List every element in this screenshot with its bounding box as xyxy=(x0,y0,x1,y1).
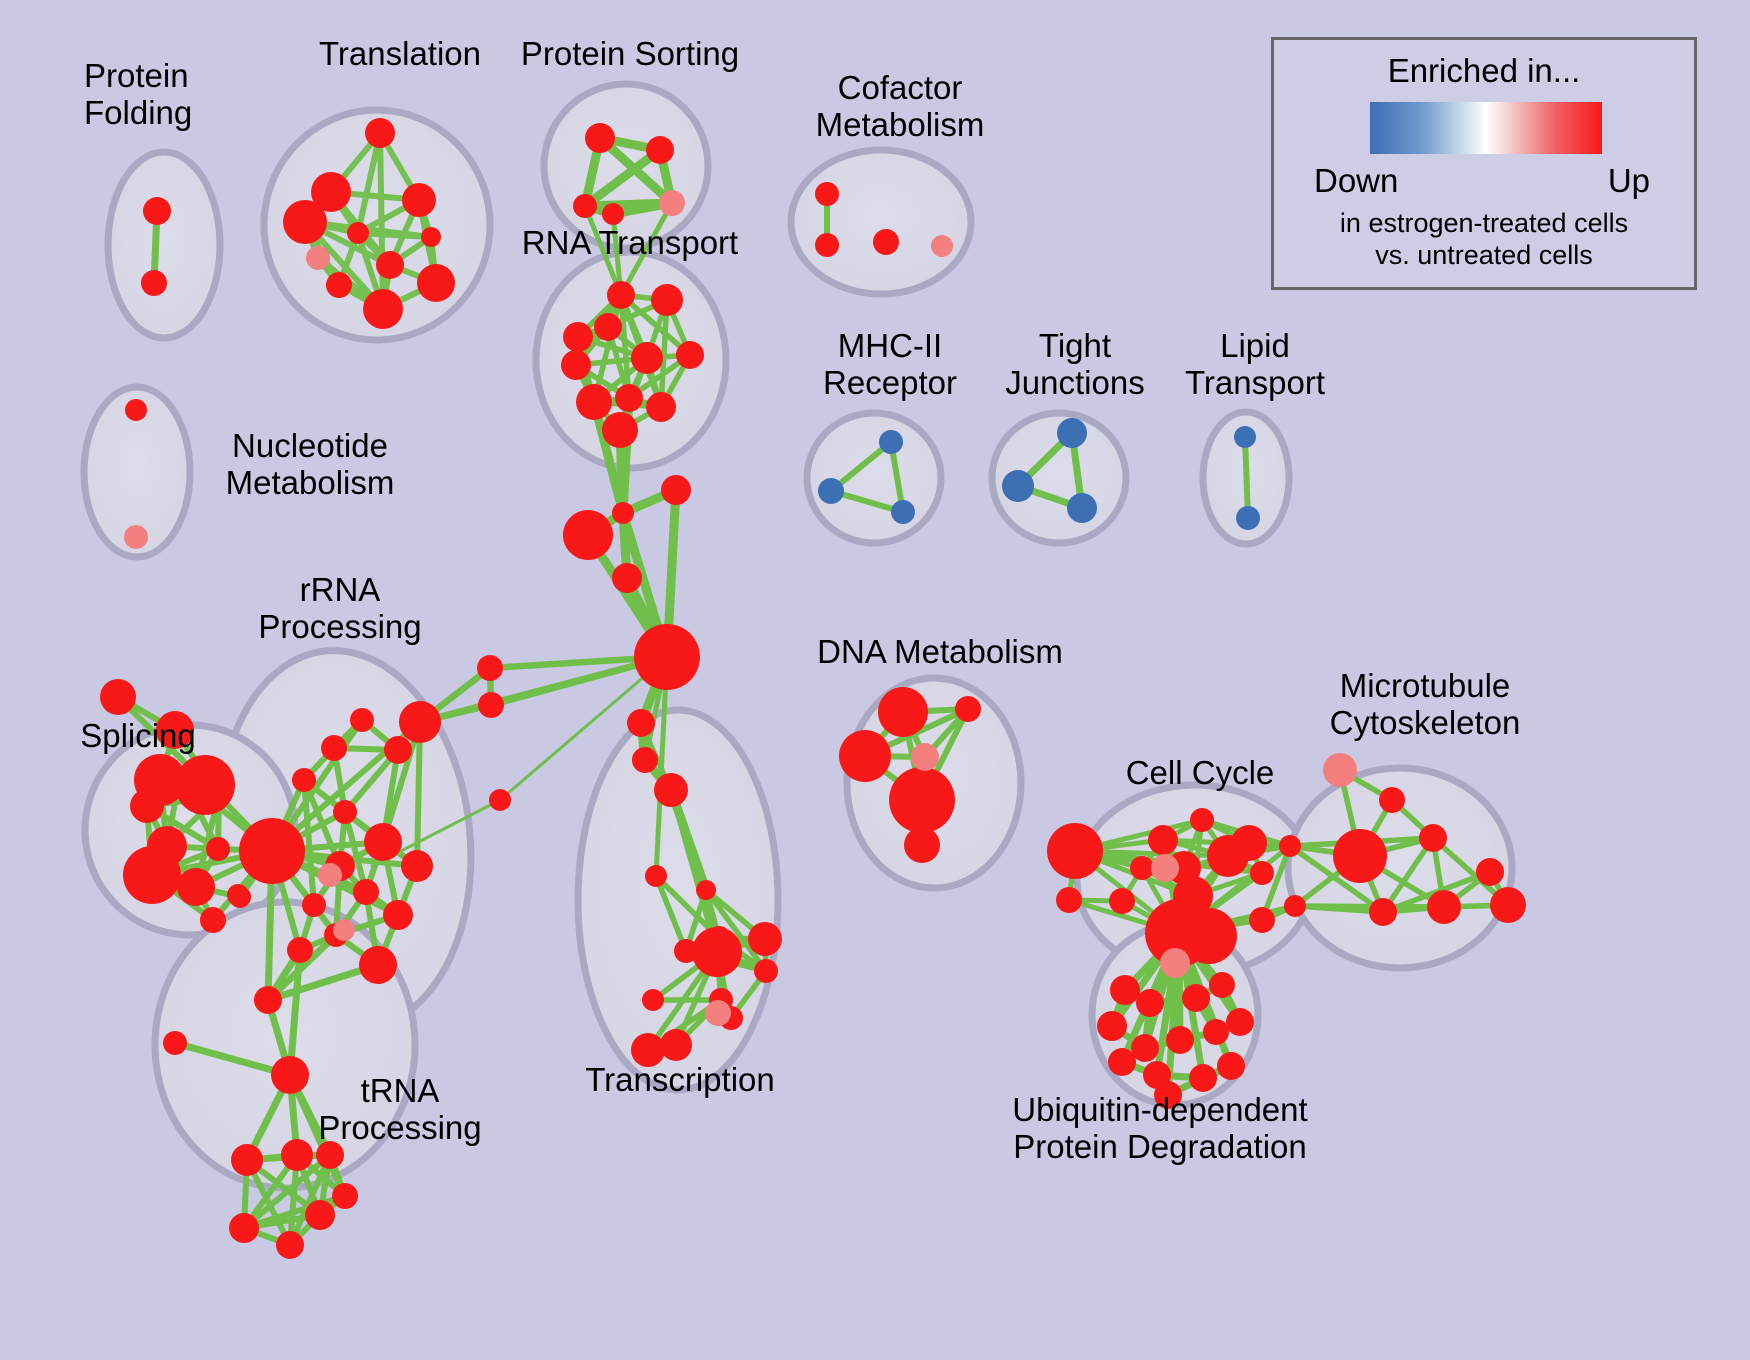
node-faded xyxy=(1160,948,1190,978)
node xyxy=(1419,824,1447,852)
network-figure: Protein Folding Translation Protein Sort… xyxy=(0,0,1750,1360)
node xyxy=(1148,825,1178,855)
node xyxy=(576,384,612,420)
node xyxy=(364,823,402,861)
cluster-label-protein-sorting: Protein Sorting xyxy=(500,36,760,73)
node xyxy=(563,510,613,560)
node-faded xyxy=(1323,753,1357,787)
node xyxy=(333,800,357,824)
node xyxy=(904,827,940,863)
node xyxy=(401,850,433,882)
node xyxy=(1249,907,1275,933)
node xyxy=(276,1231,304,1259)
node xyxy=(1236,506,1260,530)
node xyxy=(1110,975,1140,1005)
node xyxy=(889,767,955,833)
node xyxy=(955,696,981,722)
legend-high-label: Up xyxy=(1608,162,1650,200)
node xyxy=(383,900,413,930)
node xyxy=(1108,1048,1136,1076)
node xyxy=(231,1144,263,1176)
hull-mhcii xyxy=(807,413,941,543)
node xyxy=(384,736,412,764)
node xyxy=(353,879,379,905)
node xyxy=(878,687,928,737)
node xyxy=(229,1213,259,1243)
node xyxy=(1130,856,1154,880)
node xyxy=(143,197,171,225)
node xyxy=(563,322,593,352)
node xyxy=(123,846,181,904)
node xyxy=(227,884,249,906)
node xyxy=(1181,908,1237,964)
node xyxy=(1166,1026,1194,1054)
cluster-label-translation: Translation xyxy=(280,36,520,73)
node xyxy=(332,1183,358,1209)
node-faded xyxy=(333,919,355,941)
node xyxy=(1226,1008,1254,1036)
node xyxy=(754,959,778,983)
node xyxy=(1047,823,1103,879)
node xyxy=(1427,890,1461,924)
cluster-label-cofactor-metabolism: Cofactor Metabolism xyxy=(790,70,1010,144)
node xyxy=(1369,898,1397,926)
node xyxy=(1379,787,1405,813)
node xyxy=(365,118,395,148)
node xyxy=(1231,825,1267,861)
node xyxy=(646,392,676,422)
node xyxy=(1097,1011,1127,1041)
node xyxy=(417,264,455,302)
node xyxy=(561,350,591,380)
node xyxy=(402,183,436,217)
node xyxy=(1057,418,1087,448)
node xyxy=(631,342,663,374)
node-faded xyxy=(705,1000,731,1026)
node xyxy=(489,789,511,811)
node xyxy=(612,563,642,593)
node xyxy=(612,502,634,524)
node xyxy=(206,837,230,861)
node xyxy=(1067,493,1097,523)
node xyxy=(1056,887,1082,913)
node xyxy=(1234,426,1256,448)
node xyxy=(1002,470,1034,502)
node-faded xyxy=(659,190,685,216)
node xyxy=(363,289,403,329)
node xyxy=(602,412,638,448)
node xyxy=(651,284,683,316)
node xyxy=(879,430,903,454)
legend-box: Enriched in... Down Up in estrogen-treat… xyxy=(1271,37,1697,290)
node xyxy=(326,272,352,298)
node xyxy=(646,136,674,164)
cluster-label-cell-cycle: Cell Cycle xyxy=(1090,755,1310,792)
node xyxy=(477,655,503,681)
node xyxy=(692,927,742,977)
node xyxy=(661,475,691,505)
node xyxy=(130,789,164,823)
node xyxy=(1190,808,1214,832)
node xyxy=(615,384,643,412)
cluster-label-dna-metabolism: DNA Metabolism xyxy=(800,634,1080,671)
node xyxy=(1333,829,1387,883)
node xyxy=(642,989,664,1011)
node xyxy=(602,203,624,225)
node xyxy=(594,313,622,341)
legend-color-gradient xyxy=(1370,102,1602,154)
node xyxy=(1217,1052,1245,1080)
cluster-label-nucleotide-metabolism: Nucleotide Metabolism xyxy=(190,428,430,502)
node xyxy=(177,868,215,906)
node xyxy=(696,880,716,900)
node xyxy=(815,233,839,257)
node xyxy=(585,123,615,153)
node xyxy=(478,692,504,718)
node xyxy=(815,182,839,206)
cluster-label-lipid-transport: Lipid Transport xyxy=(1155,328,1355,402)
hull-protein-folding xyxy=(108,152,220,338)
node xyxy=(660,1029,692,1061)
node xyxy=(634,624,700,690)
node xyxy=(287,937,313,963)
node xyxy=(1476,858,1504,886)
node xyxy=(654,773,688,807)
node xyxy=(1490,887,1526,923)
node xyxy=(305,1200,335,1230)
node xyxy=(1136,989,1164,1017)
node xyxy=(873,229,899,255)
cluster-label-tight-junctions: Tight Junctions xyxy=(975,328,1175,402)
legend-title: Enriched in... xyxy=(1274,52,1694,90)
node-faded xyxy=(306,246,330,270)
node xyxy=(1279,835,1301,857)
node xyxy=(359,946,397,984)
node xyxy=(347,222,369,244)
node xyxy=(125,399,147,421)
cluster-label-microtubule-cytoskeleton: Microtubule Cytoskeleton xyxy=(1295,668,1555,742)
node xyxy=(607,281,635,309)
node xyxy=(100,679,136,715)
node-faded xyxy=(124,525,148,549)
cluster-label-transcription: Transcription xyxy=(560,1062,800,1099)
node xyxy=(1182,984,1210,1012)
node-faded xyxy=(1151,854,1179,882)
node xyxy=(399,701,441,743)
legend-subtitle: in estrogen-treated cells vs. untreated … xyxy=(1274,208,1694,272)
cluster-label-rna-transport: RNA Transport xyxy=(505,225,755,262)
node xyxy=(254,986,282,1014)
node xyxy=(141,270,167,296)
node xyxy=(292,768,316,792)
cluster-label-trna-processing: tRNA Processing xyxy=(300,1073,500,1147)
node xyxy=(1109,888,1135,914)
node xyxy=(302,893,326,917)
node xyxy=(1203,1019,1229,1045)
node xyxy=(350,708,374,732)
node xyxy=(839,730,891,782)
node xyxy=(421,227,441,247)
hull-cofactor xyxy=(791,150,971,294)
node xyxy=(163,1031,187,1055)
node xyxy=(200,907,226,933)
node xyxy=(1250,861,1274,885)
node xyxy=(645,865,667,887)
cluster-label-ubiquitin-protein-degradation: Ubiquitin-dependent Protein Degradation xyxy=(980,1092,1340,1166)
cluster-label-rrna-processing: rRNA Processing xyxy=(240,572,440,646)
node xyxy=(676,341,704,369)
node xyxy=(1209,972,1235,998)
legend-low-label: Down xyxy=(1314,162,1398,200)
node xyxy=(632,747,658,773)
cluster-label-mhc-ii-receptor: MHC-II Receptor xyxy=(790,328,990,402)
node xyxy=(818,478,844,504)
node xyxy=(627,709,655,737)
cluster-label-protein-folding: Protein Folding xyxy=(84,58,294,132)
cluster-label-splicing: Splicing xyxy=(48,718,228,755)
node xyxy=(175,755,235,815)
node-faded xyxy=(911,743,939,771)
node-faded xyxy=(318,863,342,887)
node xyxy=(748,922,782,956)
node xyxy=(376,251,404,279)
node xyxy=(209,786,229,806)
node xyxy=(239,818,305,884)
node xyxy=(321,735,347,761)
node xyxy=(1284,895,1306,917)
node xyxy=(573,194,597,218)
node xyxy=(891,500,915,524)
node-faded xyxy=(931,235,953,257)
node xyxy=(1189,1064,1217,1092)
node xyxy=(283,200,327,244)
